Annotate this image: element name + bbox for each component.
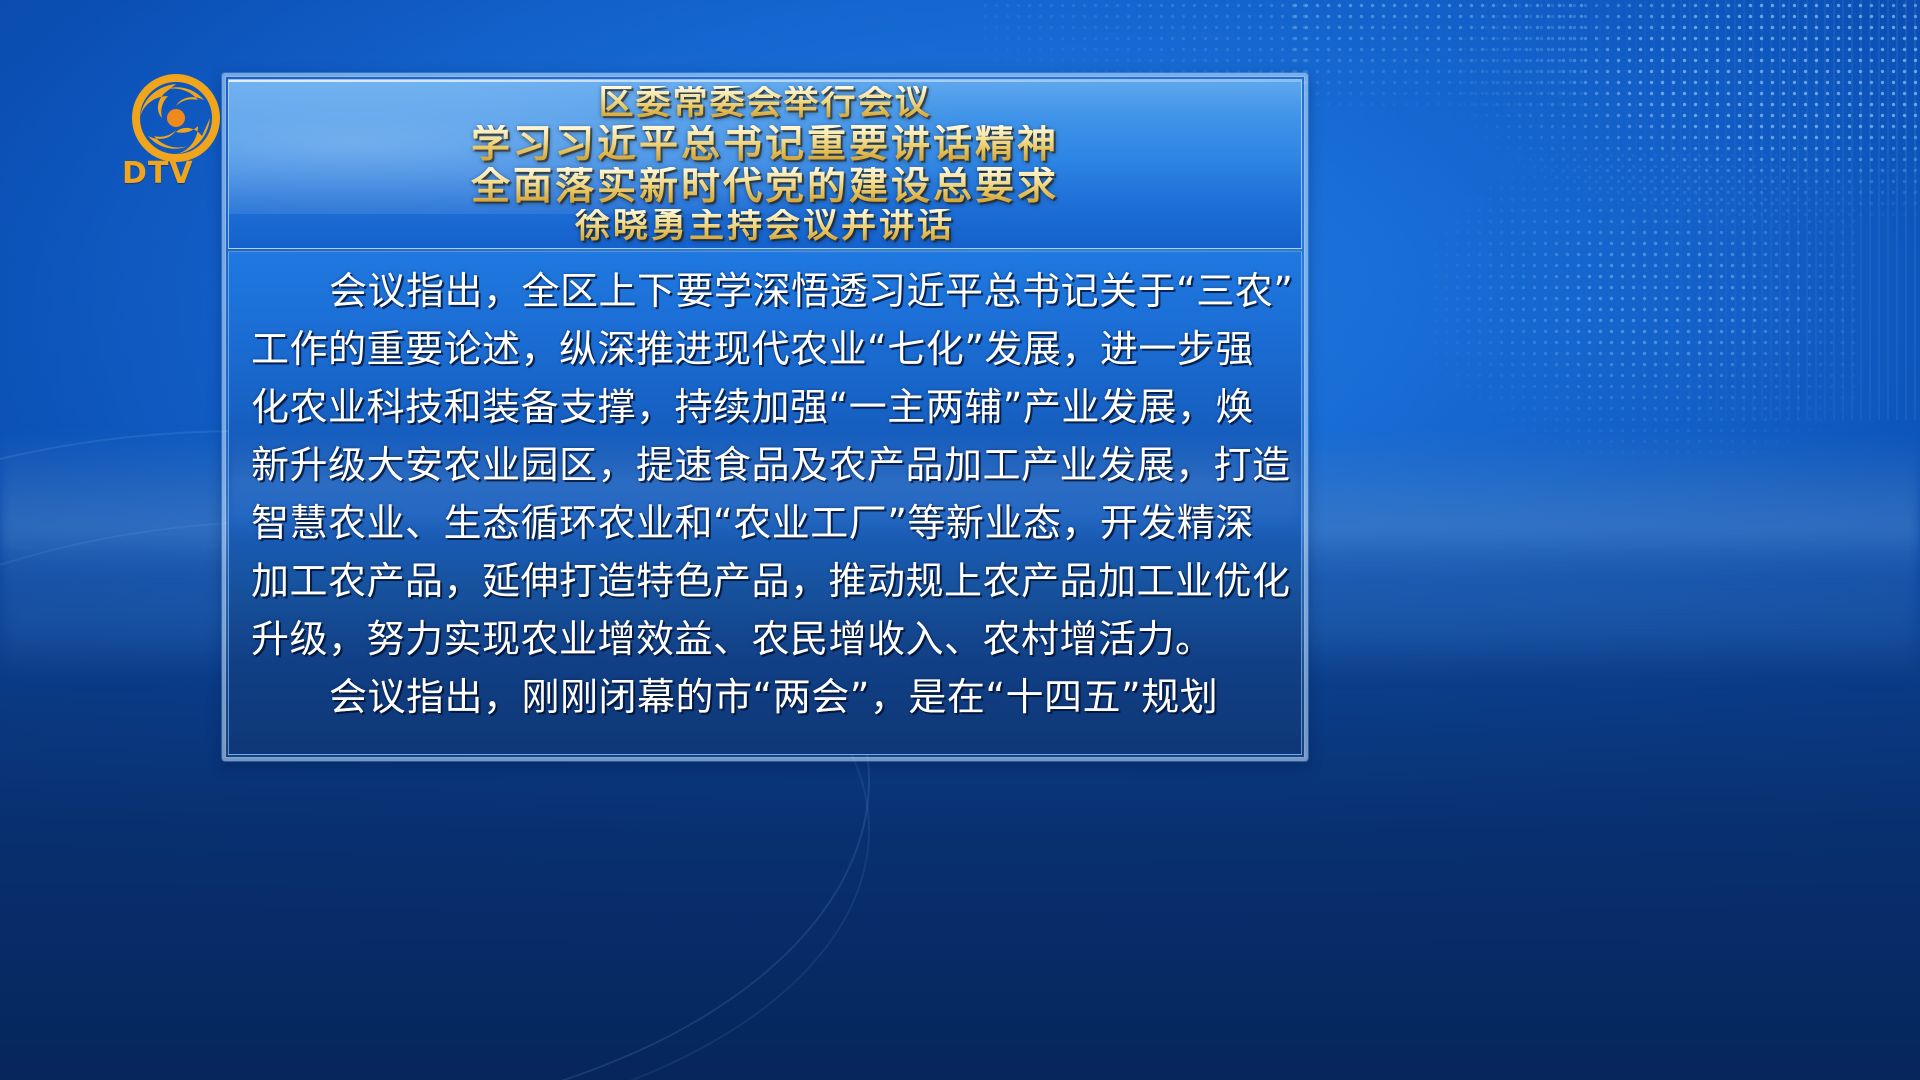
body-line: 工作的重要论述，纵深推进现代农业“七化”发展，进一步强 — [251, 320, 1279, 378]
logo-center-dot — [167, 109, 185, 127]
body-line: 化农业科技和装备支撑，持续加强“一主两辅”产业发展，焕 — [251, 378, 1279, 436]
headline-line-2: 学习习近平总书记重要讲话精神 — [471, 125, 1059, 164]
body-line: 会议指出，全区上下要学深悟透习近平总书记关于“三农” — [251, 262, 1279, 320]
body-line: 加工农产品，延伸打造特色产品，推动规上农产品加工业优化 — [251, 552, 1279, 610]
body-line: 智慧农业、生态循环农业和“农业工厂”等新业态，开发精深 — [251, 494, 1279, 552]
body-line: 新升级大安农业园区，提速食品及农产品加工产业发展，打造 — [251, 436, 1279, 494]
body-line: 会议指出，刚刚闭幕的市“两会”，是在“十四五”规划 — [251, 668, 1279, 726]
headline-block: 区委常委会举行会议 学习习近平总书记重要讲话精神 全面落实新时代党的建设总要求 … — [228, 79, 1302, 249]
headline-line-4: 徐晓勇主持会议并讲话 — [575, 209, 955, 244]
article-body-block: 会议指出，全区上下要学深悟透习近平总书记关于“三农” 工作的重要论述，纵深推进现… — [228, 251, 1302, 755]
channel-wordmark: DTV — [122, 156, 194, 191]
headline-line-1: 区委常委会举行会议 — [598, 86, 931, 121]
channel-logo: DTV — [118, 72, 234, 200]
body-line: 升级，努力实现农业增效益、农民增收入、农村增活力。 — [251, 610, 1279, 668]
swirl-globe-icon — [118, 72, 234, 164]
news-lower-third-panel: 区委常委会举行会议 学习习近平总书记重要讲话精神 全面落实新时代党的建设总要求 … — [222, 73, 1308, 761]
headline-line-3: 全面落实新时代党的建设总要求 — [471, 167, 1059, 206]
vertical-stripes-decoration — [1500, 0, 1920, 420]
